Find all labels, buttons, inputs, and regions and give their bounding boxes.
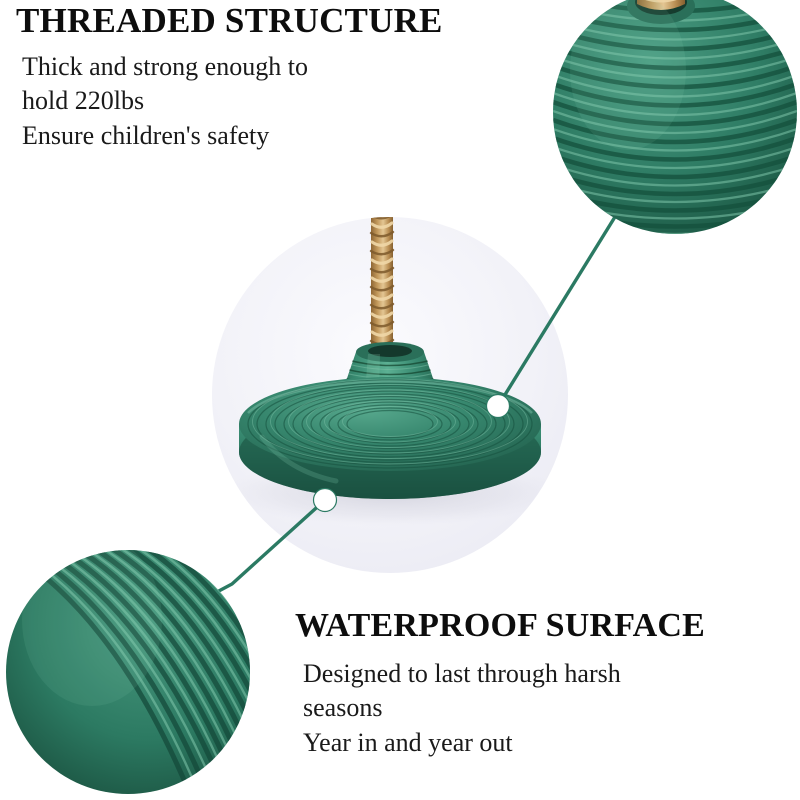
threaded-cone-hotspot-dot[interactable] [487, 395, 510, 418]
feature-line: hold 220lbs [22, 84, 536, 119]
disc-seat [239, 377, 541, 499]
callout-line-threaded [498, 212, 618, 406]
infographic-page: THREADED STRUCTURE Thick and strong enou… [0, 0, 800, 800]
threaded-cone-hub [327, 342, 453, 437]
feature-line-list-waterproof-surface: Designed to last through harsh seasons Y… [303, 657, 795, 761]
callout-threaded-structure [487, 212, 619, 418]
main-product-scene [212, 196, 568, 573]
feature-line: seasons [303, 691, 795, 726]
rope-stub-detail [627, 0, 695, 24]
scene-backdrop-circle [212, 217, 568, 573]
callout-waterproof-surface [168, 489, 337, 619]
callout-line-waterproof [168, 500, 325, 618]
feature-line: Year in and year out [303, 726, 795, 761]
threaded-cone-detail-circle [553, 0, 797, 242]
feature-line-list-threaded-structure: Thick and strong enough to hold 220lbs E… [22, 50, 536, 154]
braided-rope [371, 196, 393, 361]
feature-block-threaded-structure: THREADED STRUCTURE Thick and strong enou… [16, 2, 536, 154]
disc-surface-hotspot-dot[interactable] [314, 489, 337, 512]
feature-block-waterproof-surface: WATERPROOF SURFACE Designed to last thro… [295, 608, 795, 760]
ground-shadow [224, 458, 560, 526]
feature-heading-threaded-structure: THREADED STRUCTURE [16, 2, 536, 40]
feature-heading-waterproof-surface: WATERPROOF SURFACE [295, 608, 795, 645]
feature-line: Ensure children's safety [22, 119, 536, 154]
feature-line: Thick and strong enough to [22, 50, 536, 85]
feature-line: Designed to last through harsh [303, 657, 795, 692]
